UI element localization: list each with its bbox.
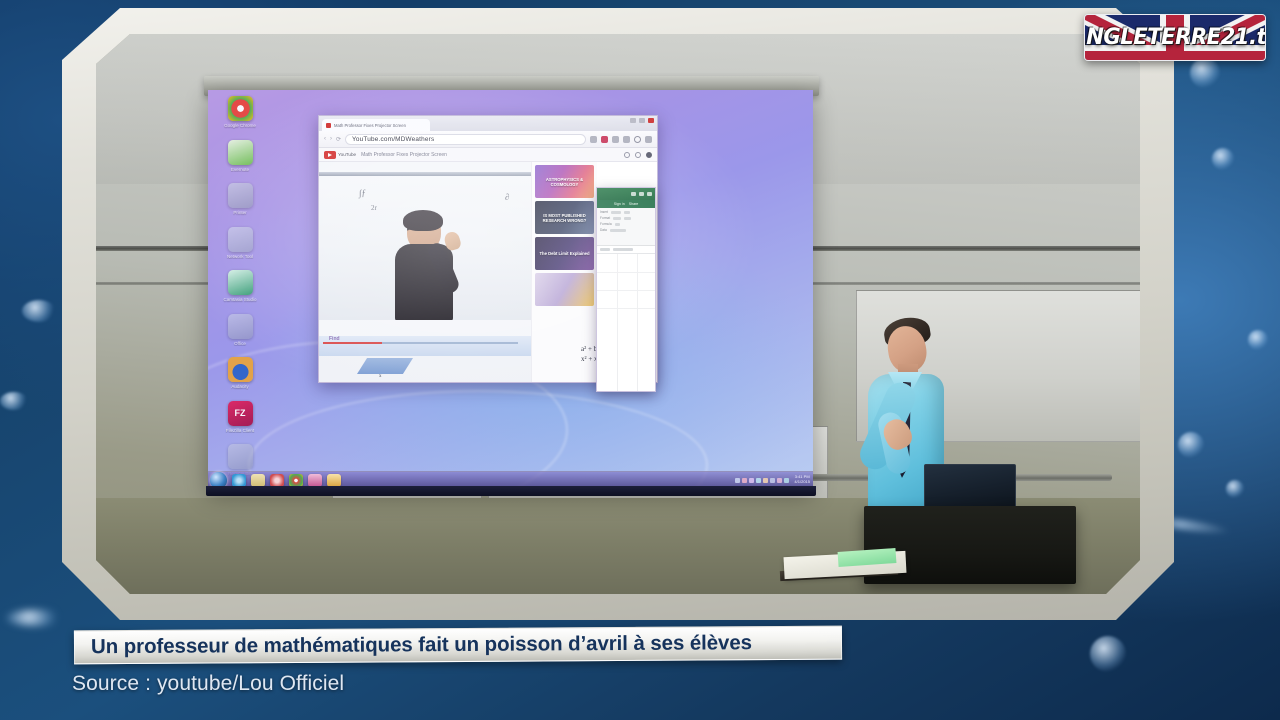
file-explorer-icon[interactable] <box>251 474 265 487</box>
restore-button[interactable] <box>639 192 644 196</box>
youtube-logo[interactable]: YouTube <box>324 151 356 159</box>
whiteboard-rail <box>319 172 531 176</box>
axis-label-x: x <box>379 374 382 379</box>
video-subject-hair <box>403 210 443 231</box>
sign-in-label[interactable]: Sign in <box>614 202 625 206</box>
excel-ribbon: Insert Format Formul <box>597 208 655 246</box>
forward-icon[interactable]: › <box>330 136 332 142</box>
desktop-icon-printer-tool[interactable]: Printer <box>214 183 266 216</box>
whiteboard-scribble: ∂ <box>505 192 509 202</box>
desktop-icon-label: Network Tool <box>214 254 266 260</box>
desktop-icon-label: Google Chrome <box>214 123 266 129</box>
desktop-icon-label: FileZilla Client <box>214 428 266 434</box>
desktop-icon-label: Camtasia Studio <box>214 297 266 303</box>
tray-icon[interactable] <box>742 478 747 483</box>
menu-icon[interactable] <box>645 136 652 143</box>
channel-logo: ANGLETERRE21.tv <box>1084 14 1266 61</box>
ribbon-row: Data <box>600 228 652 232</box>
video-subject-man <box>389 212 467 320</box>
whiteboard-scribble: 2r <box>371 204 377 212</box>
bokeh-dot <box>1090 636 1126 672</box>
ribbon-label: Formula <box>600 222 612 226</box>
desktop-icon-office-app[interactable]: Office <box>214 314 266 347</box>
minimize-button[interactable] <box>630 118 636 123</box>
tray-icon[interactable] <box>735 478 740 483</box>
notifications-icon[interactable] <box>635 152 641 158</box>
browser-toolbar: ‹ › ⟳ YouTube.com/MDWeathers <box>319 131 657 148</box>
desktop-icon-label: Printer <box>214 210 266 216</box>
ribbon-chip <box>610 229 626 232</box>
ribbon-label: Format <box>600 216 610 220</box>
evernote-icon <box>228 140 253 165</box>
bokeh-dot <box>1226 480 1244 498</box>
desktop-icon-filezilla[interactable]: FZ FileZilla Client <box>214 401 266 434</box>
ribbon-label: Insert <box>600 210 608 214</box>
desktop-icon-network-tool[interactable]: Network Tool <box>214 227 266 260</box>
grid-line <box>637 254 638 391</box>
grid-line <box>597 272 655 273</box>
desktop-icon-label: Office <box>214 341 266 347</box>
bookmark-bar: YouTube Math Professor Fixes Projector S… <box>319 148 657 162</box>
filezilla-icon: FZ <box>228 401 253 426</box>
video-player[interactable]: ∫ƒ 2r ∂ <box>319 162 531 382</box>
ribbon-row: Insert <box>600 210 652 214</box>
whiteboard-scribble: ∫ƒ <box>359 188 366 198</box>
thumbnail-title: The Debt Limit Explained <box>539 251 589 256</box>
excel-grid[interactable] <box>597 254 655 391</box>
ribbon-row: Formula <box>600 222 652 226</box>
grid-line <box>597 290 655 291</box>
play-icon <box>324 151 336 159</box>
desktop-icon-label: Evernote <box>214 167 266 173</box>
tray-icon[interactable] <box>770 478 775 483</box>
share-label[interactable]: Share <box>629 202 639 206</box>
video-frame-content: ∫ƒ 2r ∂ <box>319 170 531 320</box>
find-label[interactable]: Find <box>329 336 340 342</box>
recycle-icon <box>228 444 253 469</box>
tray-icon[interactable] <box>763 478 768 483</box>
network-icon <box>228 227 253 252</box>
system-tray: 3:41 PM 4/1/2015 <box>735 475 810 484</box>
excel-title-bar[interactable] <box>597 188 655 200</box>
chrome-icon[interactable] <box>289 474 303 487</box>
camtasia-icon <box>228 270 253 295</box>
apps-icon[interactable] <box>623 136 630 143</box>
youtube-favicon <box>326 123 331 128</box>
lecture-hall: Google Chrome Evernote Printer <box>96 34 1140 594</box>
media-player-icon[interactable] <box>270 474 284 487</box>
desktop-icon-evernote[interactable]: Evernote <box>214 140 266 173</box>
paint-icon[interactable] <box>308 474 322 487</box>
address-bar[interactable]: YouTube.com/MDWeathers <box>345 134 586 145</box>
ribbon-row: Format <box>600 216 652 220</box>
excel-window[interactable]: Sign in Share Insert Format <box>596 187 656 392</box>
grid-line <box>597 308 655 309</box>
desktop-icon-camtasia[interactable]: Camtasia Studio <box>214 270 266 303</box>
grid-line <box>617 254 618 391</box>
bokeh-dot <box>22 300 56 322</box>
thumbnail-astrophysics[interactable]: ASTROPHYSICS & COSMOLOGY <box>535 165 594 198</box>
windows-desktop: Google Chrome Evernote Printer <box>208 90 813 488</box>
window-controls <box>630 118 654 123</box>
extension-icon[interactable] <box>601 136 608 143</box>
back-icon[interactable]: ‹ <box>324 136 326 142</box>
thumbnail-research[interactable]: IS MOST PUBLISHED RESEARCH WRONG? <box>535 201 594 234</box>
bokeh-dot <box>0 392 28 410</box>
bokeh-dot <box>1212 148 1234 170</box>
printer-icon <box>228 183 253 208</box>
progress-track[interactable] <box>323 342 518 344</box>
caption-text: Un professeur de mathématiques fait un p… <box>91 631 752 659</box>
ribbon-chip <box>624 217 631 220</box>
page-title-label: Math Professor Fixes Projector Screen <box>361 152 619 158</box>
tray-icon[interactable] <box>777 478 782 483</box>
formula-chip <box>600 248 610 251</box>
taskbar-clock[interactable]: 3:41 PM 4/1/2015 <box>794 475 810 484</box>
bokeh-dot <box>1190 58 1220 88</box>
google-chrome-icon <box>228 96 253 121</box>
progress-fill <box>323 342 382 344</box>
maximize-button[interactable] <box>639 118 645 123</box>
thumbnail-debt-limit[interactable]: The Debt Limit Explained <box>535 237 594 270</box>
desktop-icon-audacity[interactable]: Audacity <box>214 357 266 390</box>
desktop-icon-label: Audacity <box>214 384 266 390</box>
desktop-icon-list: Google Chrome Evernote Printer <box>214 96 266 488</box>
excel-account-bar: Sign in Share <box>597 200 655 208</box>
bokeh-dot <box>1248 330 1268 350</box>
formula-chip <box>613 248 633 251</box>
internet-explorer-icon[interactable] <box>232 474 246 487</box>
bokeh-dot <box>1178 432 1204 458</box>
office-icon <box>228 314 253 339</box>
close-button[interactable] <box>647 192 652 196</box>
minimize-button[interactable] <box>631 192 636 196</box>
youtube-brand-label: YouTube <box>338 152 356 157</box>
star-icon[interactable] <box>590 136 597 143</box>
ribbon-chip <box>613 217 621 220</box>
close-button[interactable] <box>648 118 654 123</box>
screen-weight-bar <box>206 486 816 496</box>
tray-icon[interactable] <box>756 478 761 483</box>
excel-formula-bar[interactable] <box>597 246 655 254</box>
video-viewport: Google Chrome Evernote Printer <box>96 34 1140 594</box>
thumbnail-title: IS MOST PUBLISHED RESEARCH WRONG? <box>537 213 592 223</box>
share-icon[interactable] <box>624 152 630 158</box>
broadcast-stage: Google Chrome Evernote Printer <box>0 0 1280 720</box>
photo-viewer-icon[interactable] <box>327 474 341 487</box>
ribbon-label: Data <box>600 228 607 232</box>
thumbnail-gauge[interactable] <box>535 273 594 306</box>
tray-icon[interactable] <box>784 478 789 483</box>
ribbon-chip <box>624 211 630 214</box>
source-credit: Source : youtube/Lou Officiel <box>72 672 344 696</box>
browser-tab-title: Math Professor Fixes Projector Screen <box>334 123 406 128</box>
tray-icon[interactable] <box>749 478 754 483</box>
player-lower-area: x <box>319 356 531 382</box>
address-bar-url: YouTube.com/MDWeathers <box>352 136 434 143</box>
thumbnail-title: ASTROPHYSICS & COSMOLOGY <box>537 177 592 187</box>
bokeh-dot <box>6 610 66 626</box>
ribbon-chip <box>615 223 620 226</box>
account-avatar-icon[interactable] <box>646 152 652 158</box>
laptop-screen <box>924 464 1016 510</box>
lower-third-caption: Un professeur de mathématiques fait un p… <box>74 626 842 665</box>
logo-text: ANGLETERRE21.tv <box>1084 25 1266 50</box>
browser-tab[interactable]: Math Professor Fixes Projector Screen <box>322 119 430 131</box>
desktop-icon-google-chrome[interactable]: Google Chrome <box>214 96 266 129</box>
browser-tab-strip: Math Professor Fixes Projector Screen <box>319 116 657 131</box>
clock-date: 4/1/2015 <box>794 480 810 485</box>
ribbon-chip <box>611 211 621 214</box>
download-icon[interactable] <box>612 136 619 143</box>
projection-screen: Google Chrome Evernote Printer <box>208 90 813 488</box>
profile-icon[interactable] <box>634 136 641 143</box>
player-controls[interactable] <box>319 336 531 356</box>
parallelogram-shape <box>357 358 413 374</box>
audacity-icon <box>228 357 253 382</box>
video-frame: Google Chrome Evernote Printer <box>62 8 1174 620</box>
reload-icon[interactable]: ⟳ <box>336 136 341 143</box>
